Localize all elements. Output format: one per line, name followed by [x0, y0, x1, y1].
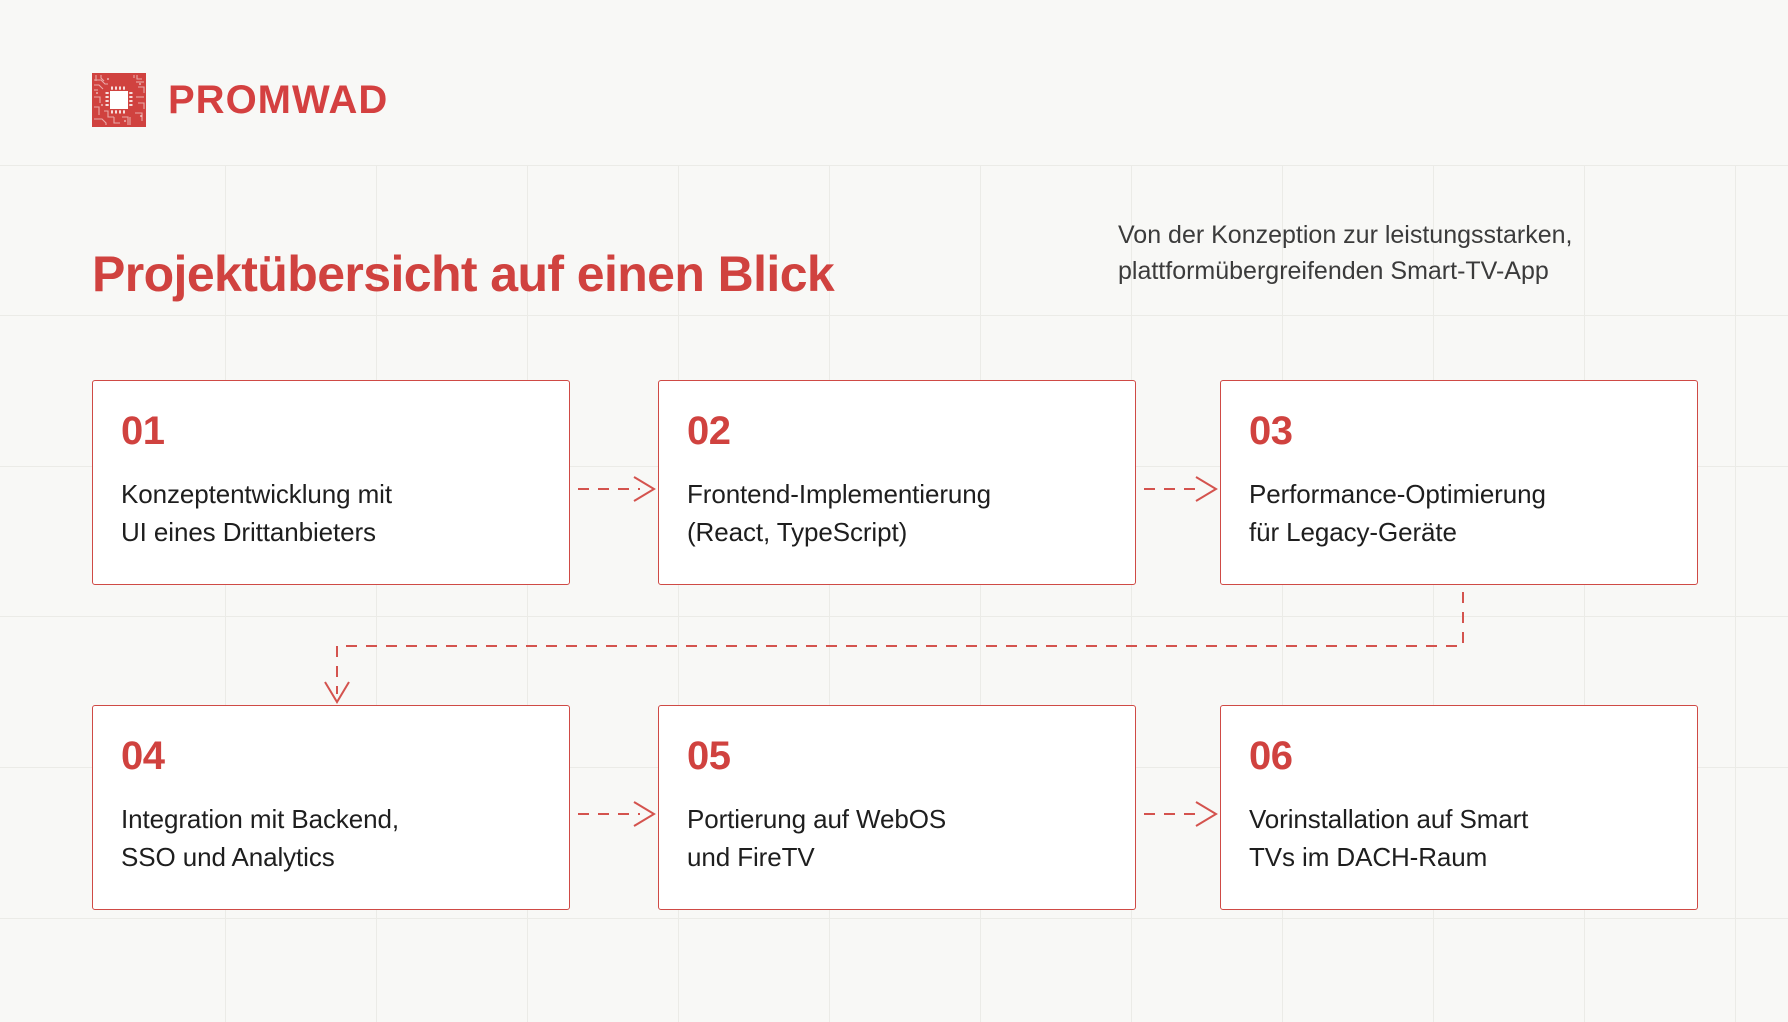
- brand-logo[interactable]: PROMWAD: [92, 73, 388, 127]
- circuit-chip-icon: [92, 73, 146, 127]
- step-number: 01: [121, 411, 541, 451]
- step-card-01[interactable]: 01 Konzeptentwicklung mit UI eines Dritt…: [92, 380, 570, 585]
- step-description: Frontend-Implementierung (React, TypeScr…: [687, 475, 1107, 552]
- page-subtitle-line-2: plattformübergreifenden Smart-TV-App: [1118, 254, 1718, 290]
- step-description: Performance-Optimierung für Legacy-Gerät…: [1249, 475, 1669, 552]
- step-description: Konzeptentwicklung mit UI eines Drittanb…: [121, 475, 541, 552]
- connector-03-to-04: [325, 592, 1463, 702]
- connector-02-to-03: [1144, 477, 1216, 501]
- page-subtitle: Von der Konzeption zur leistungsstarken,…: [1118, 218, 1718, 289]
- step-number: 06: [1249, 736, 1669, 776]
- step-number: 02: [687, 411, 1107, 451]
- step-number: 04: [121, 736, 541, 776]
- step-description: Portierung auf WebOS und FireTV: [687, 800, 1107, 877]
- step-description: Integration mit Backend, SSO und Analyti…: [121, 800, 541, 877]
- step-card-03[interactable]: 03 Performance-Optimierung für Legacy-Ge…: [1220, 380, 1698, 585]
- brand-wordmark: PROMWAD: [168, 80, 388, 120]
- step-description: Vorinstallation auf Smart TVs im DACH-Ra…: [1249, 800, 1669, 877]
- connector-05-to-06: [1144, 802, 1216, 826]
- connector-01-to-02: [578, 477, 654, 501]
- step-card-05[interactable]: 05 Portierung auf WebOS und FireTV: [658, 705, 1136, 910]
- page-title: Projektübersicht auf einen Blick: [92, 247, 834, 302]
- page-subtitle-line-1: Von der Konzeption zur leistungsstarken,: [1118, 218, 1718, 254]
- step-card-02[interactable]: 02 Frontend-Implementierung (React, Type…: [658, 380, 1136, 585]
- connector-04-to-05: [578, 802, 654, 826]
- step-number: 05: [687, 736, 1107, 776]
- step-card-06[interactable]: 06 Vorinstallation auf Smart TVs im DACH…: [1220, 705, 1698, 910]
- step-number: 03: [1249, 411, 1669, 451]
- step-card-04[interactable]: 04 Integration mit Backend, SSO und Anal…: [92, 705, 570, 910]
